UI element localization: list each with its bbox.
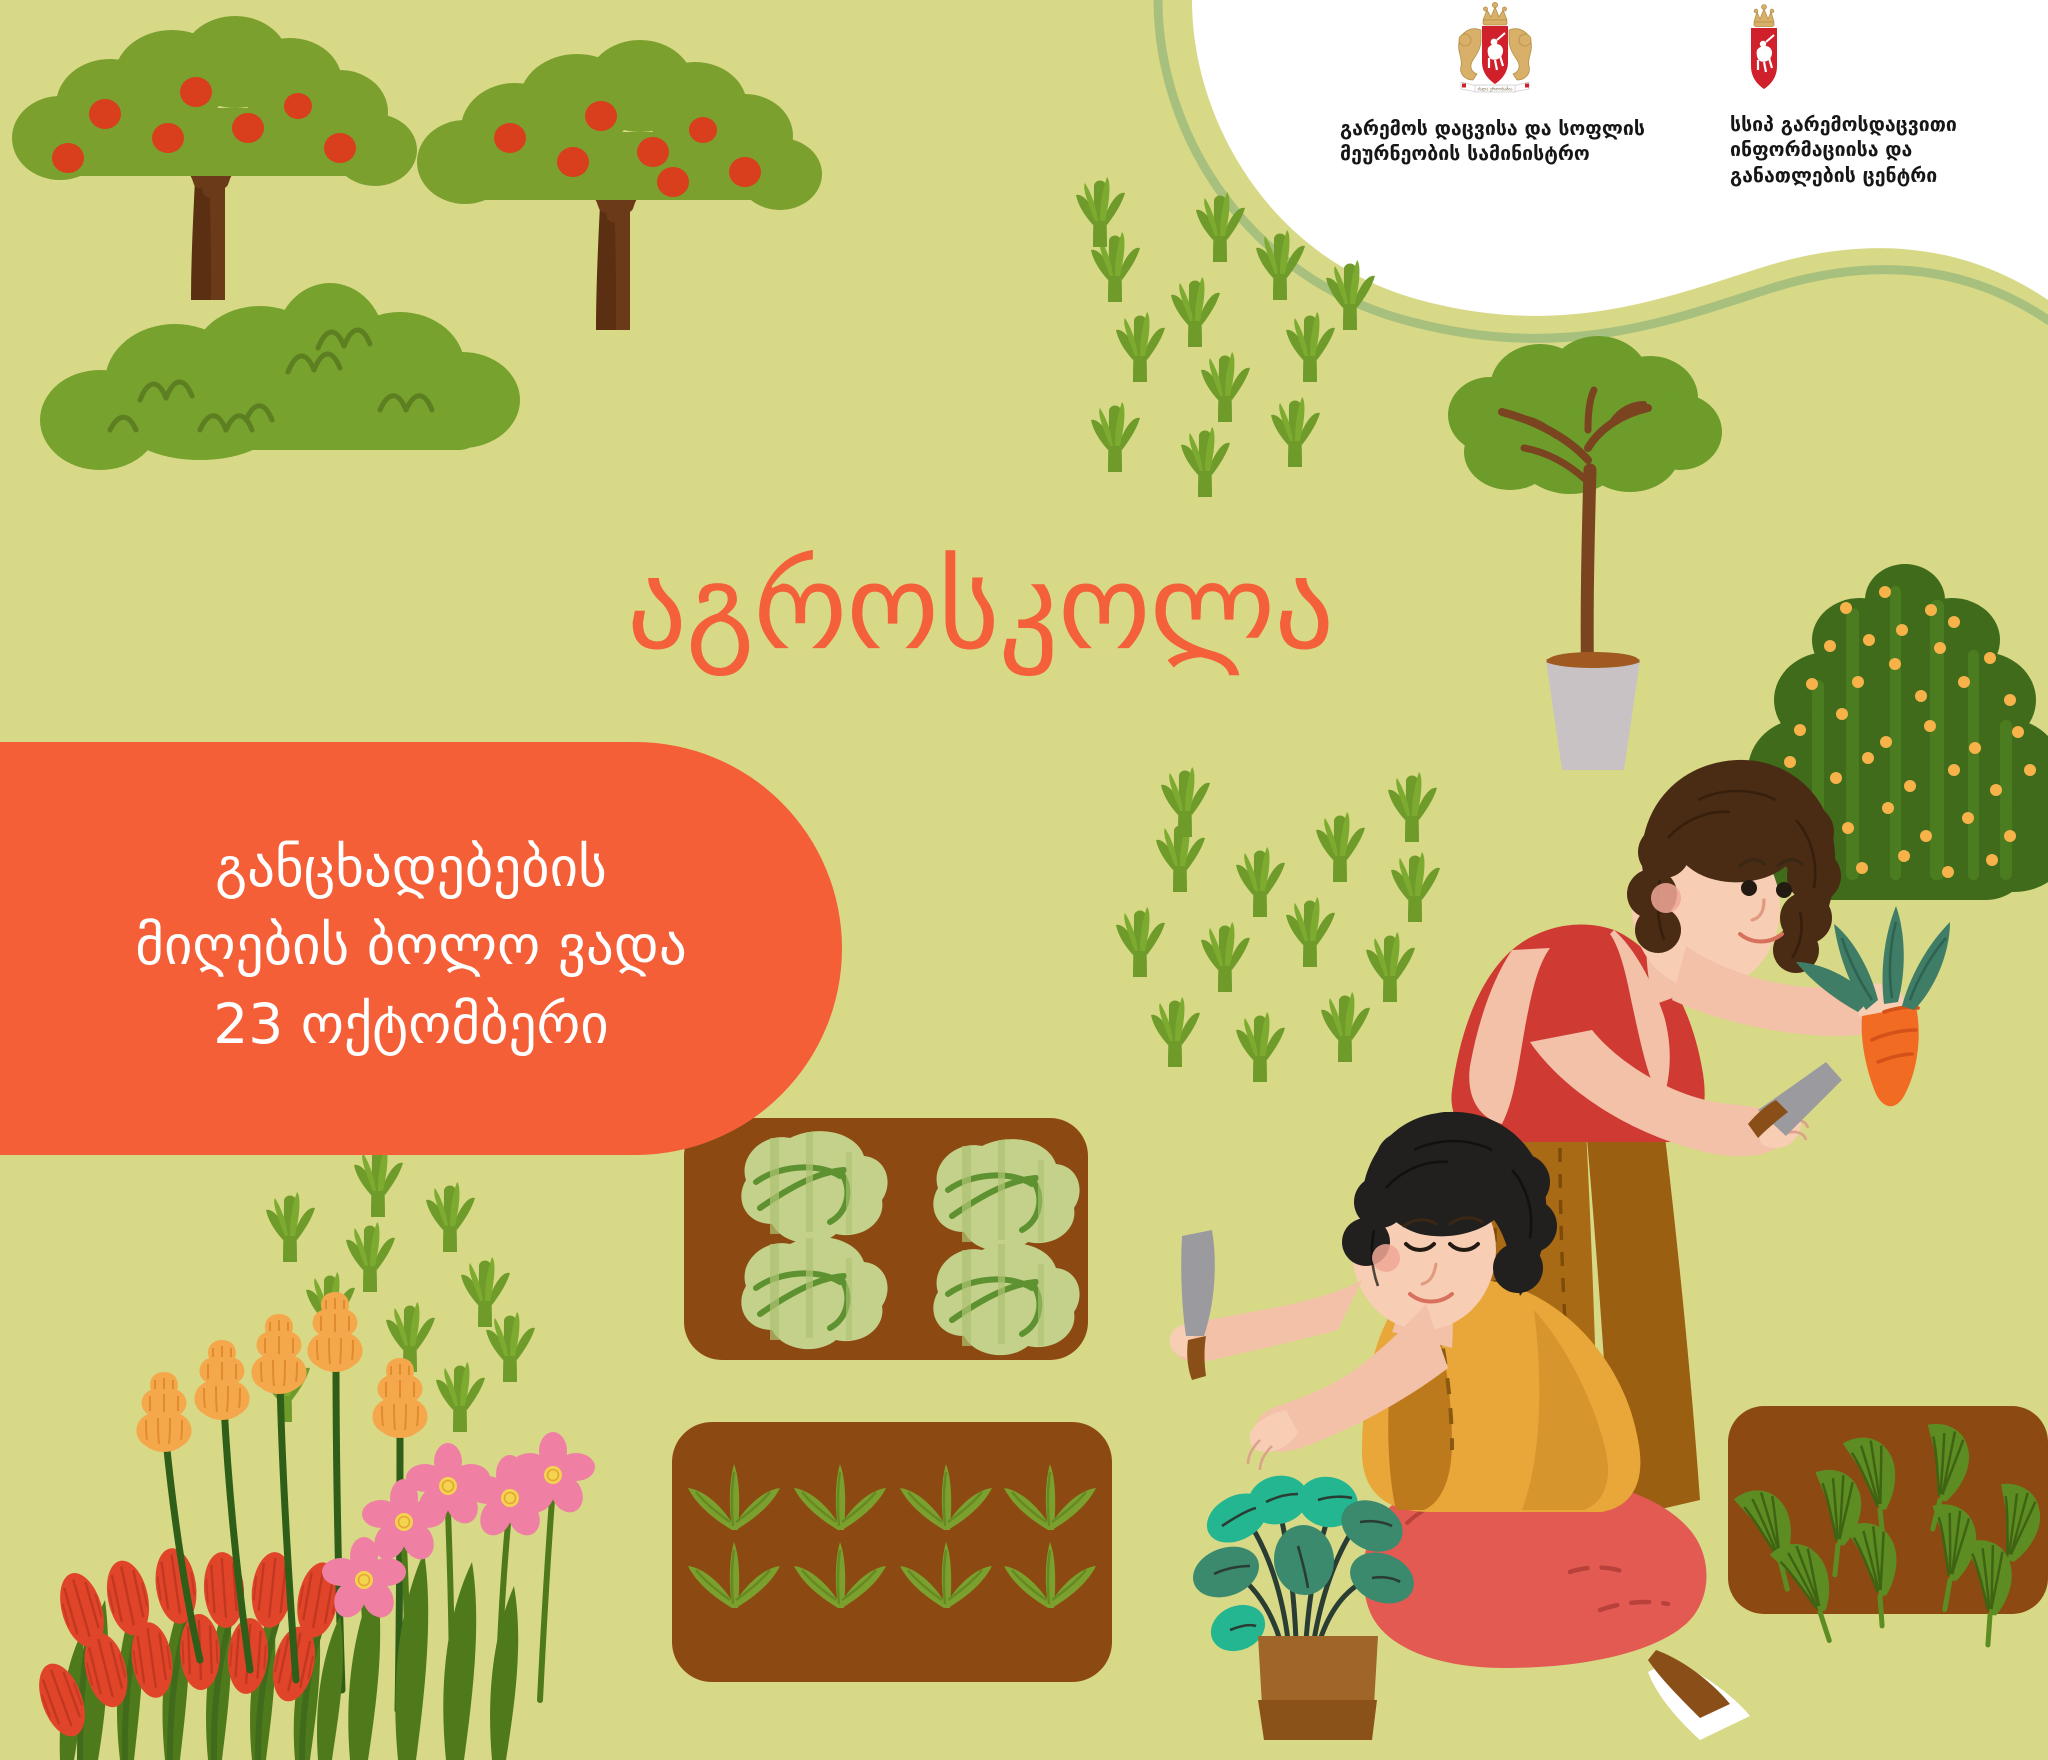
georgia-shield-coat-of-arms-icon (1734, 0, 1794, 104)
logo-center-label: სსიპ გარემოსდაცვითი ინფორმაციისა და განა… (1730, 112, 1990, 188)
leafy-garden-bed-right (1728, 1406, 2048, 1650)
logo-center: სსიპ გარემოსდაცვითი ინფორმაციისა და განა… (1730, 0, 1990, 188)
svg-text:ძალა ერთობაშია: ძალა ერთობაშია (1477, 86, 1512, 91)
header-logos: ძალა ერთობაშია გარემოს დაცვისა და სოფლის… (1340, 0, 2048, 200)
deadline-banner: განცხადებების მიღების ბოლო ვადა 23 ოქტომ… (0, 742, 842, 1155)
logo-ministry: ძალა ერთობაშია გარემოს დაცვისა და სოფლის… (1340, 0, 1670, 167)
deadline-banner-text: განცხადებების მიღების ბოლო ვადა 23 ოქტომ… (75, 828, 727, 1062)
georgia-full-coat-of-arms-icon: ძალა ერთობაშია (1447, 0, 1543, 108)
page-title: აგროსკოლა (480, 548, 1480, 666)
sprout-garden-bed (672, 1422, 1112, 1682)
cabbage-garden-bed (684, 1118, 1088, 1360)
poster-canvas: ძალა ერთობაშია გარემოს დაცვისა და სოფლის… (0, 0, 2048, 1760)
logo-ministry-label: გარემოს დაცვისა და სოფლის მეურნეობის სამ… (1340, 116, 1670, 167)
